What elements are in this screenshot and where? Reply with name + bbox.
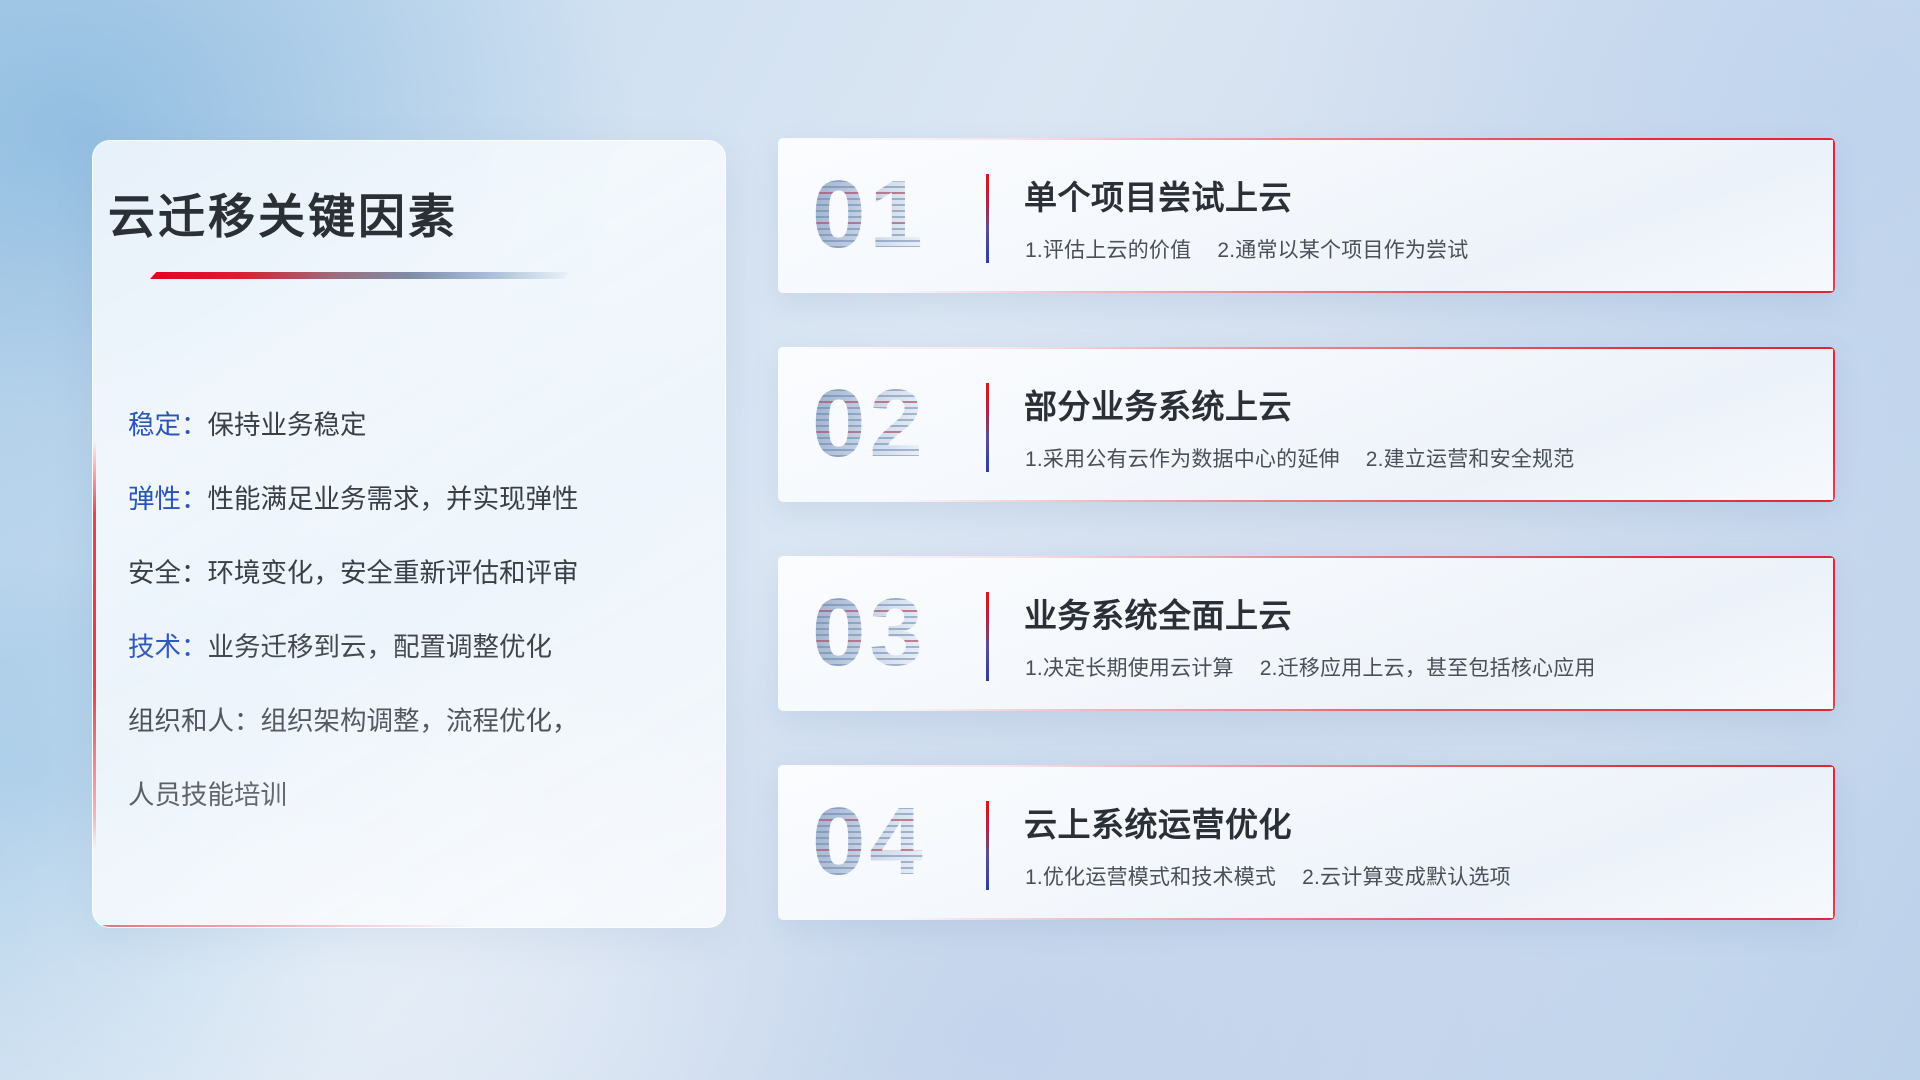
factor-text-stability: 保持业务稳定 bbox=[208, 410, 367, 440]
step-subtitle-03-a: 1.决定长期使用云计算 bbox=[1025, 657, 1234, 680]
factor-item-organization-line2: 人员技能培训 bbox=[128, 758, 608, 832]
step-bottom-accent-line bbox=[898, 918, 1835, 920]
step-number-04-red-overlay: 04 bbox=[812, 789, 927, 895]
card-left-accent-line bbox=[93, 441, 96, 849]
step-top-accent-line bbox=[778, 138, 1835, 140]
step-subtitle-02: 1.采用公有云作为数据中心的延伸2.建立运营和安全规范 bbox=[1025, 443, 1574, 473]
title-underline-rule bbox=[150, 272, 570, 279]
step-bottom-accent-line bbox=[898, 291, 1835, 293]
card-bottom-accent-line bbox=[93, 925, 475, 927]
step-divider-bar bbox=[986, 383, 989, 472]
step-top-accent-line bbox=[778, 347, 1835, 349]
factor-label-elasticity: 弹性： bbox=[128, 484, 208, 514]
step-divider-bar bbox=[986, 801, 989, 890]
factor-item-elasticity: 弹性：性能满足业务需求，并实现弹性 bbox=[128, 462, 608, 536]
factor-item-technology: 技术：业务迁移到云，配置调整优化 bbox=[128, 610, 608, 684]
key-factors-list: 稳定：保持业务稳定 弹性：性能满足业务需求，并实现弹性 安全：环境变化，安全重新… bbox=[128, 388, 608, 832]
step-card-01[interactable]: 01 01 单个项目尝试上云 1.评估上云的价值2.通常以某个项目作为尝试 bbox=[778, 138, 1835, 293]
step-subtitle-04: 1.优化运营模式和技术模式2.云计算变成默认选项 bbox=[1025, 861, 1511, 891]
step-number-01-red-overlay: 01 bbox=[812, 162, 927, 268]
slide-canvas: 云迁移关键因素 稳定：保持业务稳定 弹性：性能满足业务需求，并实现弹性 安全：环… bbox=[0, 0, 1920, 1080]
step-subtitle-03-b: 2.迁移应用上云，甚至包括核心应用 bbox=[1260, 657, 1596, 680]
step-card-02[interactable]: 02 02 部分业务系统上云 1.采用公有云作为数据中心的延伸2.建立运营和安全… bbox=[778, 347, 1835, 502]
factor-text-organization: 组织架构调整，流程优化， bbox=[261, 706, 579, 736]
step-top-accent-line bbox=[778, 556, 1835, 558]
factor-item-stability: 稳定：保持业务稳定 bbox=[128, 388, 608, 462]
migration-steps-list: 01 01 单个项目尝试上云 1.评估上云的价值2.通常以某个项目作为尝试 02… bbox=[778, 138, 1835, 974]
step-title-04: 云上系统运营优化 bbox=[1024, 798, 1292, 846]
step-title-02: 部分业务系统上云 bbox=[1024, 380, 1292, 428]
step-card-03[interactable]: 03 03 业务系统全面上云 1.决定长期使用云计算2.迁移应用上云，甚至包括核… bbox=[778, 556, 1835, 711]
step-right-accent-line bbox=[1833, 765, 1835, 920]
step-subtitle-02-a: 1.采用公有云作为数据中心的延伸 bbox=[1025, 448, 1340, 471]
factor-label-security: 安全： bbox=[128, 558, 208, 588]
step-number-03-red-overlay: 03 bbox=[812, 580, 927, 686]
step-right-accent-line bbox=[1833, 347, 1835, 502]
step-subtitle-01: 1.评估上云的价值2.通常以某个项目作为尝试 bbox=[1025, 234, 1468, 264]
step-number-02-red-overlay: 02 bbox=[812, 371, 927, 477]
page-title: 云迁移关键因素 bbox=[108, 178, 458, 247]
step-right-accent-line bbox=[1833, 556, 1835, 711]
step-subtitle-01-b: 2.通常以某个项目作为尝试 bbox=[1217, 239, 1468, 262]
step-subtitle-03: 1.决定长期使用云计算2.迁移应用上云，甚至包括核心应用 bbox=[1025, 652, 1596, 682]
step-title-03: 业务系统全面上云 bbox=[1024, 589, 1292, 637]
factor-text-elasticity: 性能满足业务需求，并实现弹性 bbox=[208, 484, 579, 514]
step-top-accent-line bbox=[778, 765, 1835, 767]
step-subtitle-04-b: 2.云计算变成默认选项 bbox=[1302, 866, 1511, 889]
factor-text-security: 环境变化，安全重新评估和评审 bbox=[208, 558, 579, 588]
step-subtitle-01-a: 1.评估上云的价值 bbox=[1025, 239, 1191, 262]
step-divider-bar bbox=[986, 592, 989, 681]
factor-text-organization-line2: 人员技能培训 bbox=[128, 780, 287, 810]
factor-item-security: 安全：环境变化，安全重新评估和评审 bbox=[128, 536, 608, 610]
step-card-04[interactable]: 04 04 云上系统运营优化 1.优化运营模式和技术模式2.云计算变成默认选项 bbox=[778, 765, 1835, 920]
step-title-01: 单个项目尝试上云 bbox=[1024, 171, 1292, 219]
step-right-accent-line bbox=[1833, 138, 1835, 293]
step-bottom-accent-line bbox=[898, 709, 1835, 711]
step-divider-bar bbox=[986, 174, 989, 263]
step-subtitle-04-a: 1.优化运营模式和技术模式 bbox=[1025, 866, 1276, 889]
factor-label-technology: 技术： bbox=[128, 632, 208, 662]
step-bottom-accent-line bbox=[898, 500, 1835, 502]
factor-text-technology: 业务迁移到云，配置调整优化 bbox=[208, 632, 553, 662]
factor-label-stability: 稳定： bbox=[128, 410, 208, 440]
factor-label-organization: 组织和人： bbox=[128, 706, 261, 736]
step-subtitle-02-b: 2.建立运营和安全规范 bbox=[1366, 448, 1575, 471]
factor-item-organization: 组织和人：组织架构调整，流程优化， bbox=[128, 684, 608, 758]
